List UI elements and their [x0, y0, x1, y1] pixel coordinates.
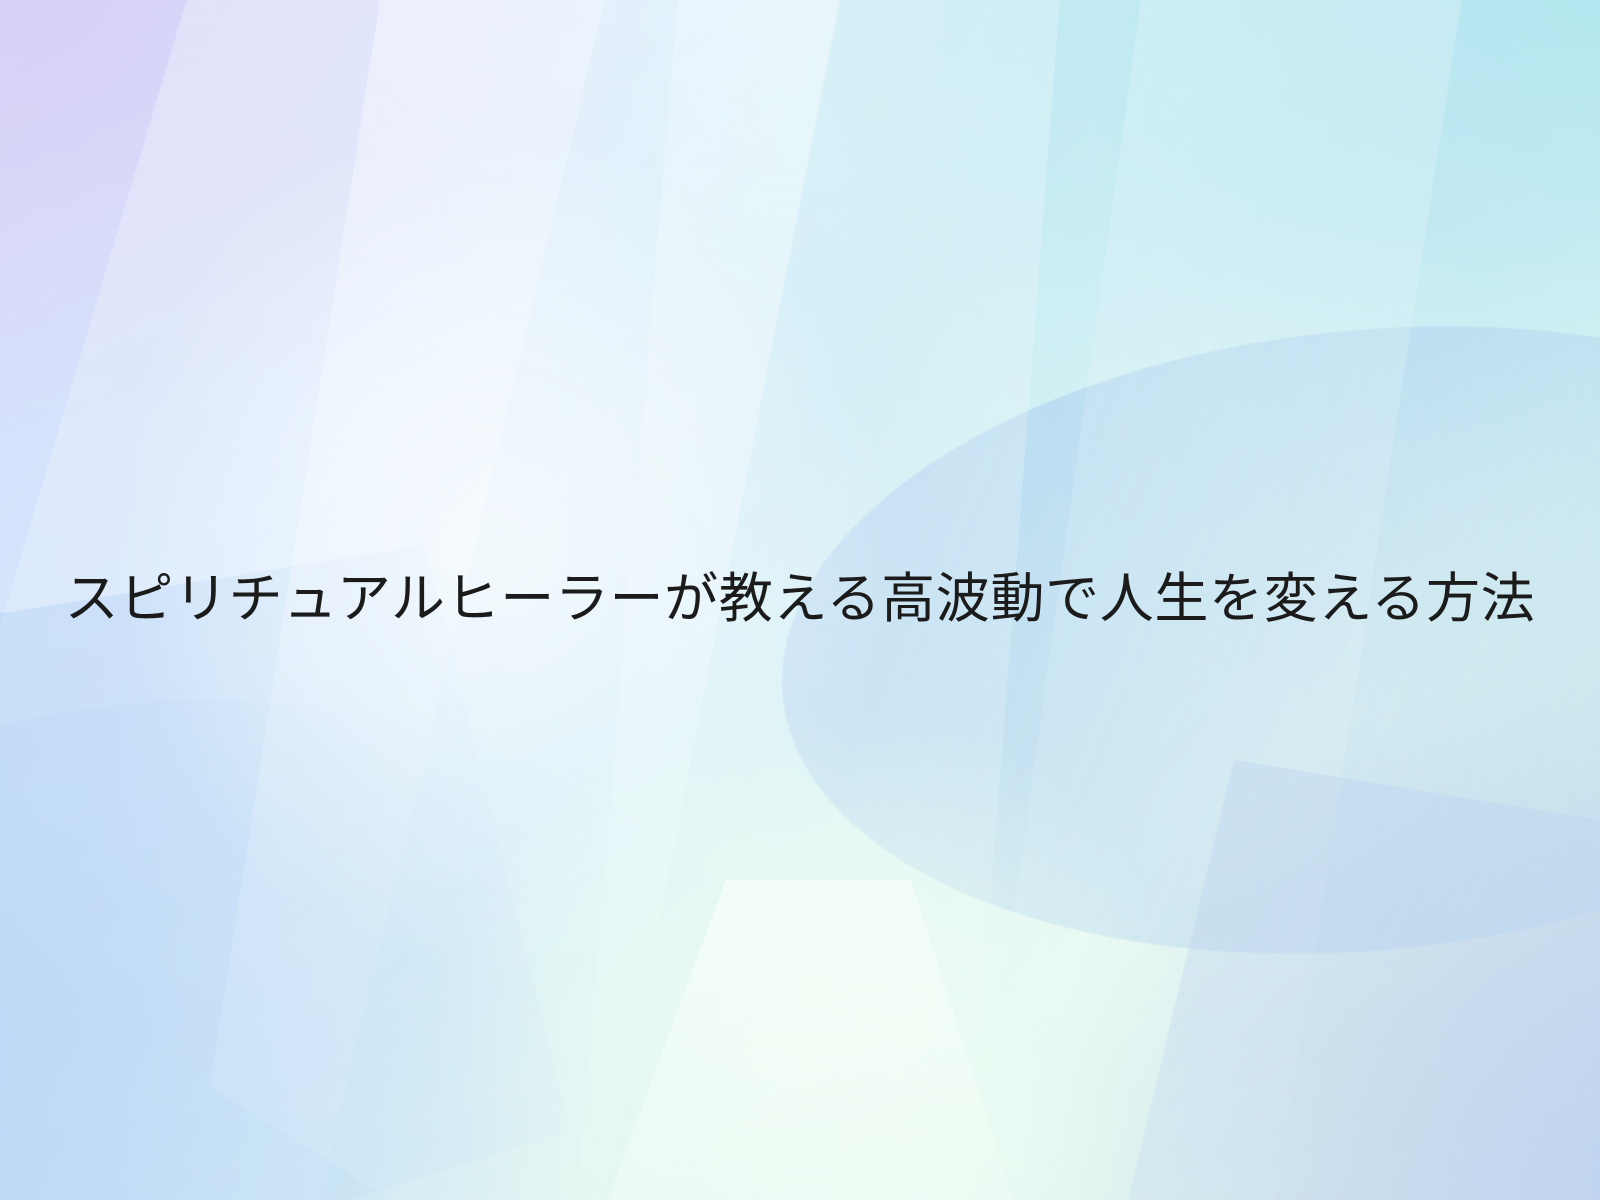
page-title: スピリチュアルヒーラーが教える高波動で人生を変える方法: [41, 568, 1560, 632]
headline-container: スピリチュアルヒーラーが教える高波動で人生を変える方法: [0, 0, 1600, 1200]
hero-title-card: スピリチュアルヒーラーが教える高波動で人生を変える方法: [0, 0, 1600, 1200]
